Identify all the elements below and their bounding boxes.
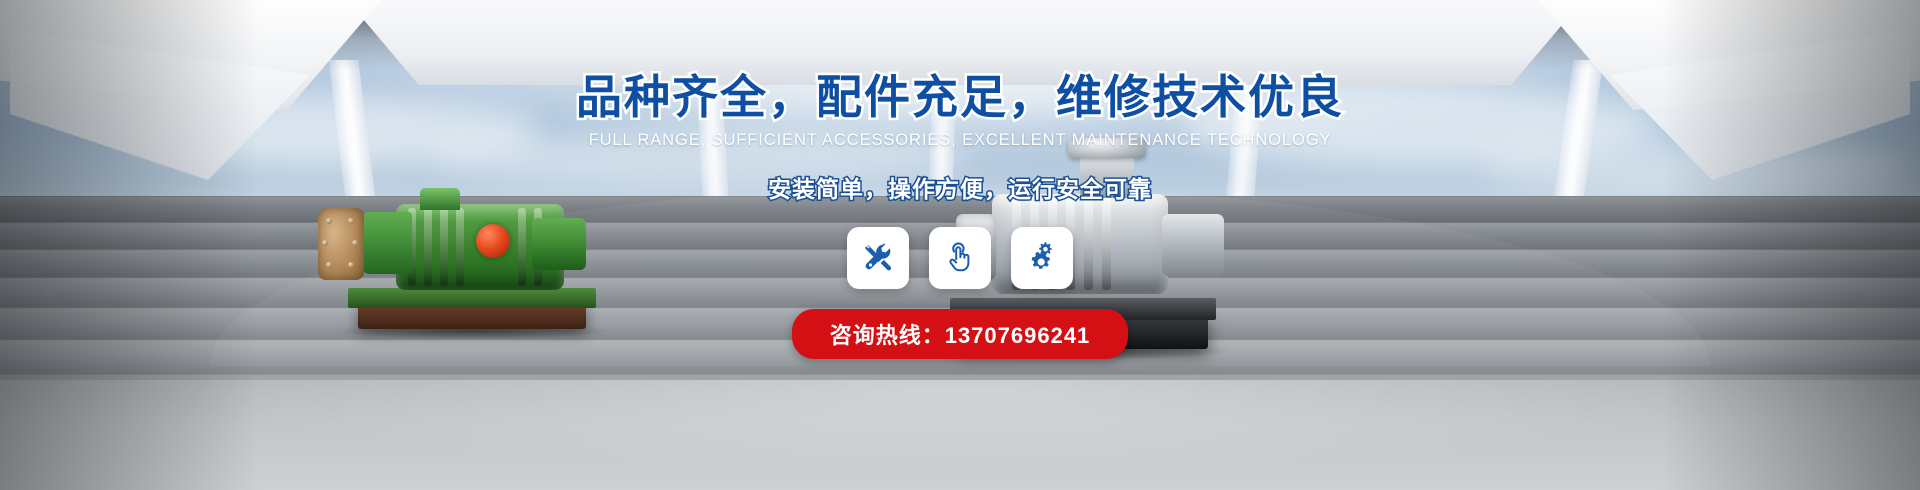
gears-cogs-icon bbox=[1025, 241, 1059, 275]
banner-headline: 品种齐全，配件充足，维修技术优良 bbox=[576, 74, 1344, 120]
banner-subtitle-english: FULL RANGE, SUFFICIENT ACCESSORIES, EXCE… bbox=[589, 131, 1332, 150]
feature-icon-box-gears[interactable] bbox=[1011, 227, 1073, 289]
pointing-hand-click-icon bbox=[943, 241, 977, 275]
tools-wrench-screwdriver-icon bbox=[861, 241, 895, 275]
hotline-banner[interactable]: 咨询热线：13707696241 bbox=[792, 309, 1129, 359]
hotline-text: 咨询热线：13707696241 bbox=[830, 323, 1091, 348]
feature-icon-box-tools[interactable] bbox=[847, 227, 909, 289]
promo-banner: 品种齐全，配件充足，维修技术优良 FULL RANGE, SUFFICIENT … bbox=[0, 0, 1920, 490]
banner-tagline: 安装简单，操作方便，运行安全可靠 bbox=[768, 170, 1152, 204]
feature-icon-row bbox=[847, 227, 1073, 289]
feature-icon-box-click[interactable] bbox=[929, 227, 991, 289]
banner-content: 品种齐全，配件充足，维修技术优良 FULL RANGE, SUFFICIENT … bbox=[0, 0, 1920, 490]
